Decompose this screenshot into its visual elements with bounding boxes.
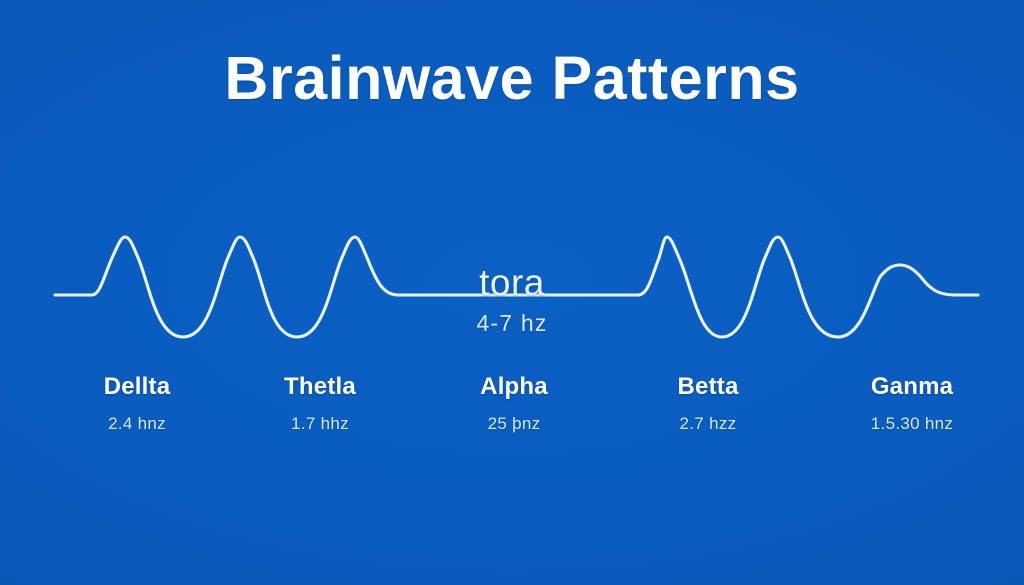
legend-item-alpha-frequency: 25 þnz [414, 415, 614, 432]
legend-item-delta: Dellta 2.4 hnz [37, 375, 237, 432]
page-title: Brainwave Patterns [0, 46, 1024, 110]
center-band-name: tora [392, 264, 632, 301]
legend-item-theta-frequency: 1.7 hhz [220, 415, 420, 432]
center-band-annotation: tora 4-7 hz [392, 264, 632, 337]
legend-item-beta-label: Betta [608, 375, 808, 399]
legend-item-beta-frequency: 2.7 hzz [608, 415, 808, 432]
legend-item-gamma-label: Ganma [812, 375, 1012, 399]
legend-item-delta-label: Dellta [37, 375, 237, 399]
legend-item-gamma: Ganma 1.5.30 hnz [812, 375, 1012, 432]
brainwave-infographic: Brainwave Patterns tora 4-7 hz Dellta 2.… [0, 0, 1024, 585]
legend-item-beta: Betta 2.7 hzz [608, 375, 808, 432]
wave-segment-right [638, 237, 978, 337]
legend: Dellta 2.4 hnz Thetla 1.7 hhz Alpha 25 þ… [0, 375, 1024, 445]
wave-segment-left [55, 237, 420, 337]
legend-item-gamma-frequency: 1.5.30 hnz [812, 415, 1012, 432]
legend-item-theta: Thetla 1.7 hhz [220, 375, 420, 432]
legend-item-delta-frequency: 2.4 hnz [37, 415, 237, 432]
center-band-frequency: 4-7 hz [392, 310, 632, 337]
legend-item-alpha: Alpha 25 þnz [414, 375, 614, 432]
legend-item-theta-label: Thetla [220, 375, 420, 399]
legend-item-alpha-label: Alpha [414, 375, 614, 399]
